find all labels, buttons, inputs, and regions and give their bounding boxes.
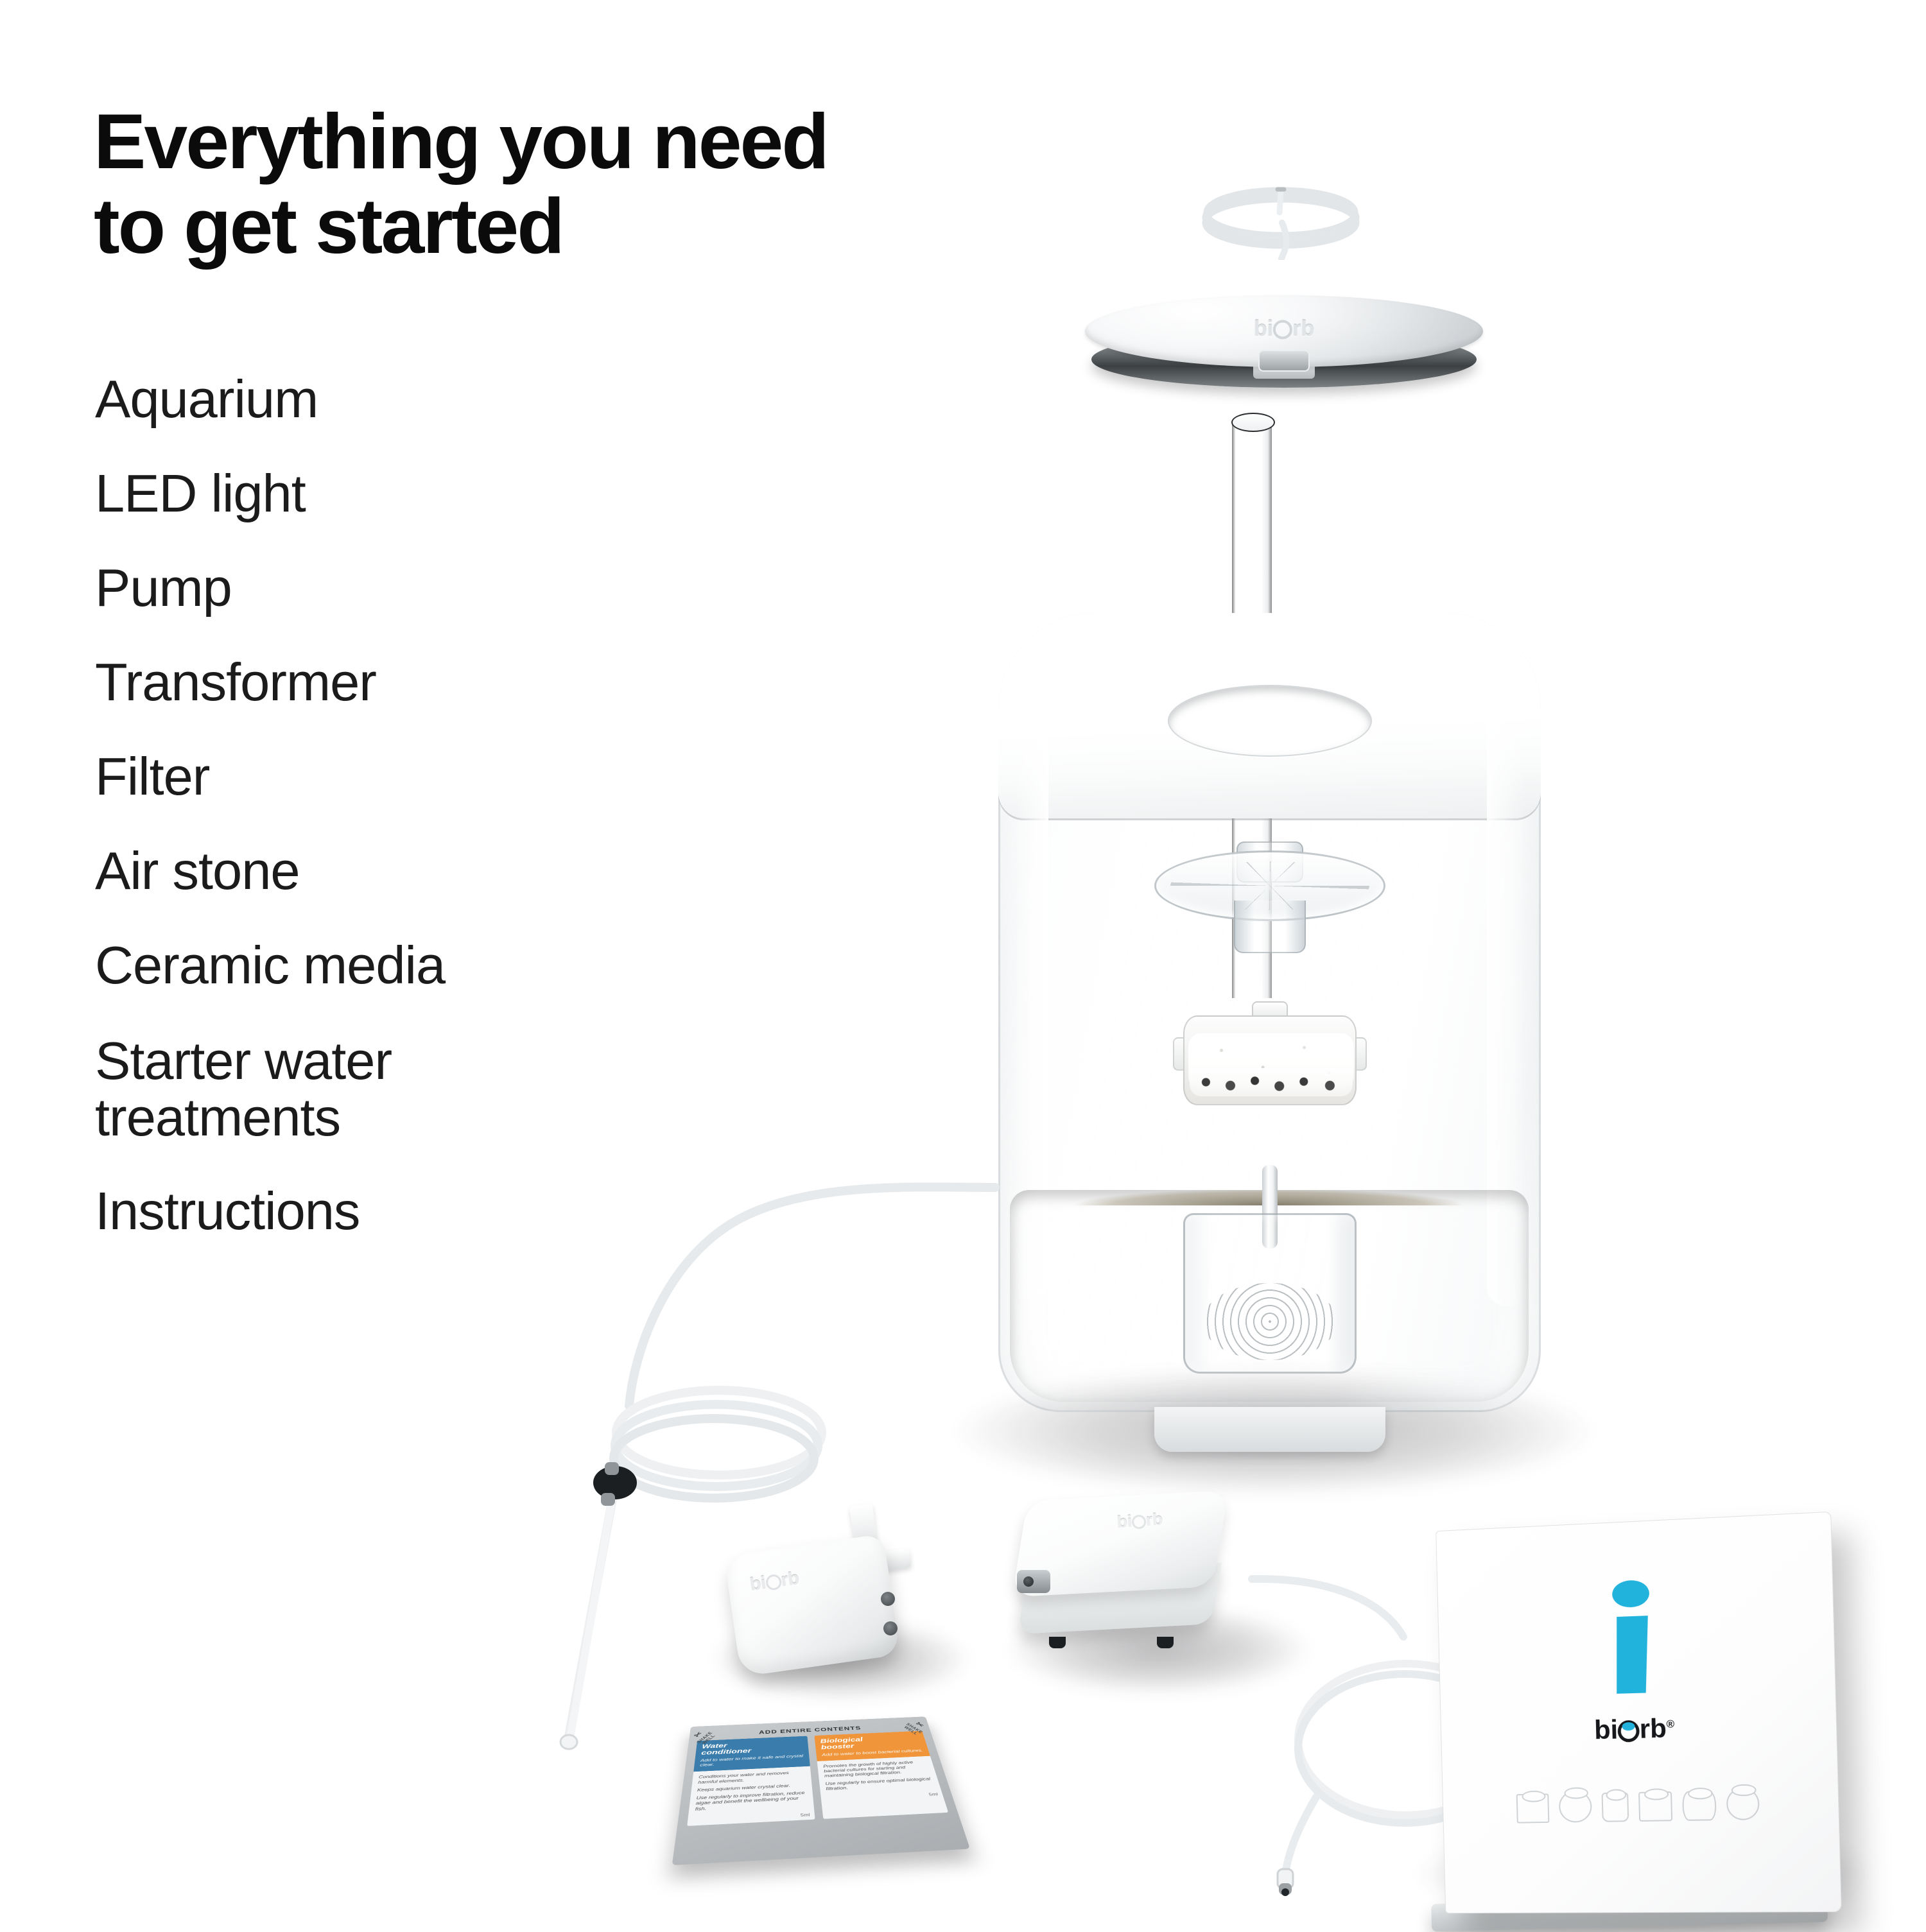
product-composition: Everything you need to get started Aquar… (0, 0, 1926, 1926)
tank-cube-icon (1516, 1793, 1550, 1823)
spreader-skirt (1234, 901, 1306, 953)
list-item: Air stone (95, 844, 801, 897)
bubble-spreader-disc (1154, 831, 1385, 953)
tank-cube2-icon (1638, 1791, 1672, 1822)
led-biorb-logo: birb (1254, 316, 1314, 341)
transformer-unit: birb (719, 1496, 950, 1688)
orb-icon (1273, 320, 1292, 339)
tank-base-foot (1154, 1407, 1385, 1452)
list-item: Aquarium (95, 372, 801, 426)
included-items-list: Aquarium LED light Pump Transformer Filt… (95, 372, 801, 1279)
i-dot (1612, 1580, 1650, 1608)
instruction-booklet: birb® (1435, 1521, 1833, 1913)
booster-para-1: Promotes the growth of highly active bac… (823, 1759, 930, 1779)
led-top-surface: birb (1085, 295, 1483, 367)
tank-shape-icon-row (1516, 1788, 1760, 1824)
booklet-cover: birb® (1436, 1512, 1842, 1913)
led-light-assembly: birb (1085, 183, 1483, 388)
pump-air-outlet (1017, 1570, 1050, 1593)
filter-cartridge (1183, 1001, 1357, 1120)
list-item: Pump (95, 561, 801, 614)
booster-para-2: Use regularly to ensure optimal biologic… (825, 1776, 934, 1791)
pump-foot-left (1049, 1637, 1066, 1648)
booklet-biorb-logo: birb® (1594, 1712, 1675, 1745)
list-item: Filter (95, 750, 801, 803)
tank-top-opening (1168, 685, 1372, 757)
led-cable-icon (1194, 183, 1367, 260)
water-treatment-sachets: ✂ SHAKEWELL ✂ SHAKEWELL ADD ENTIRE CONTE… (684, 1685, 947, 1877)
tank-ball-icon (1726, 1788, 1760, 1820)
conditioner-body: Conditions your water and removes harmfu… (688, 1766, 815, 1818)
headline-line-1: Everything you need (94, 98, 828, 185)
orb-icon (1618, 1720, 1640, 1743)
booster-body: Promotes the growth of highly active bac… (817, 1756, 942, 1798)
tank-top-cap (998, 613, 1541, 818)
pump-chamber (1183, 1213, 1357, 1374)
transformer-socket-b (883, 1621, 898, 1635)
conditioner-head: Water conditioner Add to water to make i… (693, 1736, 810, 1772)
orb-icon (1131, 1514, 1146, 1529)
orb-icon (765, 1574, 782, 1591)
i-stem (1615, 1616, 1650, 1694)
tank-tube-icon (1602, 1792, 1629, 1822)
list-item: Transformer (95, 655, 801, 709)
headline-line-2: to get started (94, 184, 928, 269)
sachet-card: ✂ SHAKEWELL ✂ SHAKEWELL ADD ENTIRE CONTE… (672, 1716, 970, 1865)
sachet-water-conditioner: Water conditioner Add to water to make i… (687, 1736, 815, 1826)
transformer-body (724, 1534, 900, 1677)
aquarium-body (998, 613, 1541, 1412)
sachet-biological-booster: Biological booster Add to water to boost… (814, 1731, 948, 1819)
transformer-socket-a (881, 1592, 895, 1606)
led-light-disc: birb (1085, 295, 1483, 392)
led-clip-notch (1258, 350, 1310, 372)
information-i-icon (1612, 1580, 1652, 1694)
page-title: Everything you need to get started (94, 99, 928, 269)
ceramic-media (1190, 1068, 1353, 1096)
conditioner-para-3: Use regularly to improve filtration, red… (695, 1790, 808, 1812)
list-item: Starter water treatments (95, 1033, 801, 1146)
pump-plug-tip-icon (1278, 1869, 1293, 1896)
pump-foot-right (1157, 1637, 1174, 1648)
list-item: Ceramic media (95, 938, 801, 992)
list-item: LED light (95, 467, 801, 520)
tank-orb-icon (1559, 1790, 1592, 1822)
pump-biorb-logo: birb (1116, 1510, 1163, 1533)
tank-cylinder-icon (1682, 1791, 1717, 1821)
cartridge-body (1183, 1015, 1357, 1105)
